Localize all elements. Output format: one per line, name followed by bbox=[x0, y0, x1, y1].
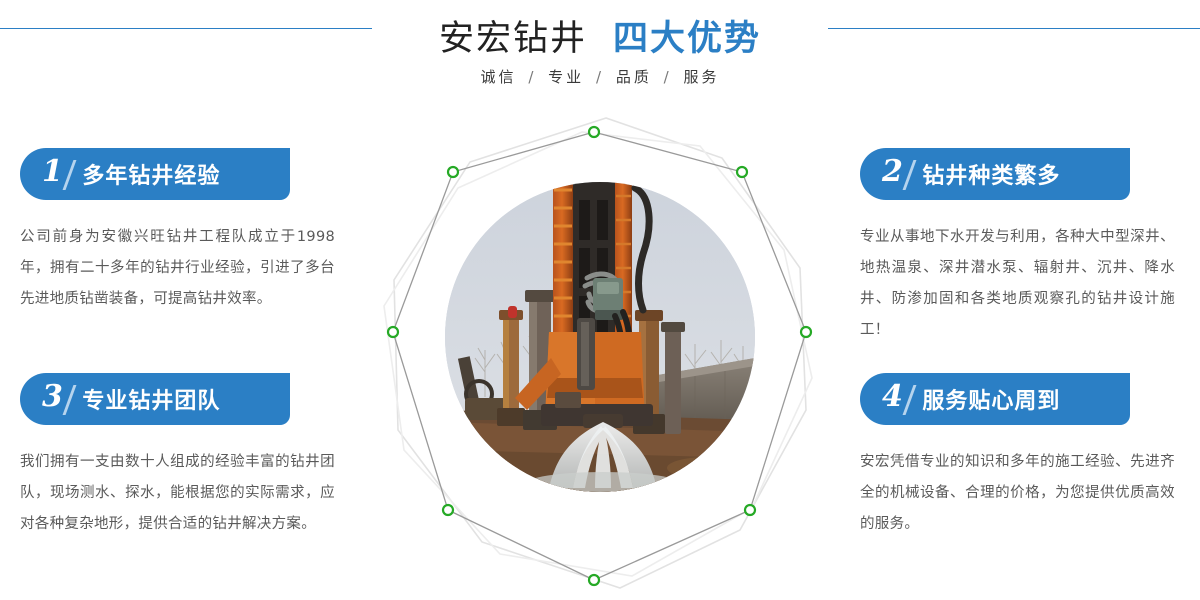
feature-number-1: 1 bbox=[42, 157, 63, 187]
node-icon bbox=[443, 505, 453, 515]
title-company: 安宏钻井 bbox=[439, 10, 587, 61]
feature-title-3: 专业钻井团队 bbox=[82, 383, 220, 415]
feature-card-3: 3 专业钻井团队 我们拥有一支由数十人组成的经验丰富的钻井团队，现场测水、探水，… bbox=[20, 373, 340, 540]
feature-title-2: 钻井种类繁多 bbox=[922, 158, 1060, 190]
page-title: 安宏钻井四大优势 bbox=[0, 10, 1200, 61]
subtitle-separator-1: / bbox=[592, 68, 608, 86]
subtitle-item-1: 专业 bbox=[548, 68, 584, 86]
drilling-rig-illustration bbox=[445, 182, 755, 492]
feature-title-1: 多年钻井经验 bbox=[82, 158, 220, 190]
subtitle-item-2: 品质 bbox=[616, 68, 652, 86]
promo-banner: 安宏钻井四大优势 诚信 / 专业 / 品质 / 服务 1 多年钻井经验 公司前身… bbox=[0, 0, 1200, 600]
subtitle: 诚信 / 专业 / 品质 / 服务 bbox=[0, 66, 1200, 87]
feature-badge-2[interactable]: 2 钻井种类繁多 bbox=[860, 148, 1130, 200]
feature-body-3: 我们拥有一支由数十人组成的经验丰富的钻井团队，现场测水、探水，能根据您的实际需求… bbox=[20, 447, 335, 540]
node-icon bbox=[448, 167, 458, 177]
feature-card-1: 1 多年钻井经验 公司前身为安徽兴旺钻井工程队成立于1998年，拥有二十多年的钻… bbox=[20, 148, 340, 315]
feature-badge-1[interactable]: 1 多年钻井经验 bbox=[20, 148, 290, 200]
badge-slash-icon bbox=[62, 160, 75, 190]
feature-number-4: 4 bbox=[882, 382, 903, 412]
feature-badge-3[interactable]: 3 专业钻井团队 bbox=[20, 373, 290, 425]
badge-slash-icon bbox=[902, 160, 915, 190]
feature-card-2: 2 钻井种类繁多 专业从事地下水开发与利用，各种大中型深井、地热温泉、深井潜水泵… bbox=[860, 148, 1180, 346]
feature-body-1: 公司前身为安徽兴旺钻井工程队成立于1998年，拥有二十多年的钻井行业经验，引进了… bbox=[20, 222, 335, 315]
node-icon bbox=[801, 327, 811, 337]
node-icon bbox=[388, 327, 398, 337]
feature-title-4: 服务贴心周到 bbox=[922, 383, 1060, 415]
node-icon bbox=[589, 127, 599, 137]
badge-slash-icon bbox=[62, 385, 75, 415]
center-graphic bbox=[370, 110, 830, 600]
feature-number-2: 2 bbox=[882, 157, 903, 187]
subtitle-separator-2: / bbox=[660, 68, 676, 86]
node-icon bbox=[737, 167, 747, 177]
node-icon bbox=[589, 575, 599, 585]
subtitle-separator-0: / bbox=[524, 68, 540, 86]
drilling-rig-photo bbox=[445, 182, 755, 492]
subtitle-item-0: 诚信 bbox=[481, 68, 517, 86]
subtitle-item-3: 服务 bbox=[683, 68, 719, 86]
feature-card-4: 4 服务贴心周到 安宏凭借专业的知识和多年的施工经验、先进齐全的机械设备、合理的… bbox=[860, 373, 1180, 540]
title-highlight: 四大优势 bbox=[613, 10, 761, 61]
node-icon bbox=[745, 505, 755, 515]
feature-badge-4[interactable]: 4 服务贴心周到 bbox=[860, 373, 1130, 425]
badge-slash-icon bbox=[902, 385, 915, 415]
feature-body-4: 安宏凭借专业的知识和多年的施工经验、先进齐全的机械设备、合理的价格，为您提供优质… bbox=[860, 447, 1175, 540]
feature-body-2: 专业从事地下水开发与利用，各种大中型深井、地热温泉、深井潜水泵、辐射井、沉井、降… bbox=[860, 222, 1175, 346]
feature-number-3: 3 bbox=[42, 382, 63, 412]
